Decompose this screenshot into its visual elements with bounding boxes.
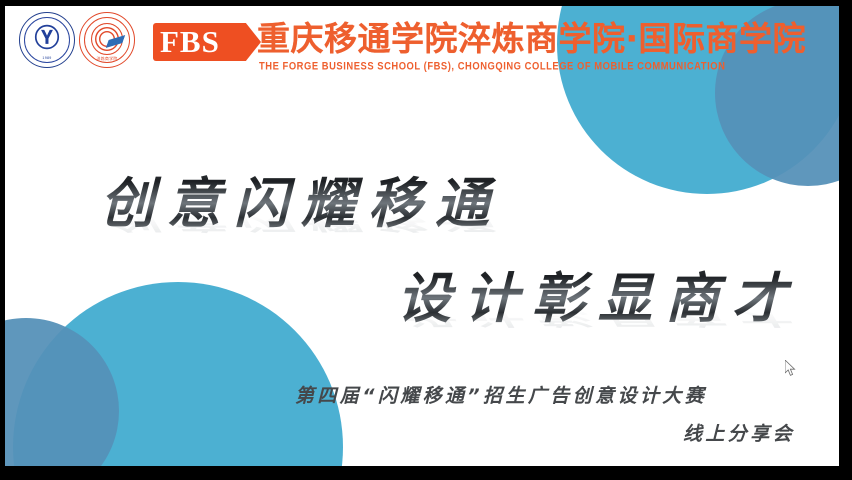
fbs-emblem-caption: 淬炼商学院 bbox=[80, 56, 134, 62]
letterbox-bar-left bbox=[0, 0, 5, 480]
letterbox-bar-top bbox=[0, 0, 852, 6]
slide-header: Ⓨ 1989 淬炼商学院 FBS 重庆移通学院淬炼商学院·国际商学院 THE F… bbox=[5, 6, 839, 82]
title-line2: 设计彰显商才 bbox=[397, 254, 799, 333]
school-name-english: THE FORGE BUSINESS SCHOOL (FBS), CHONGQI… bbox=[259, 59, 725, 72]
letterbox-bar-bottom bbox=[0, 466, 852, 480]
emblem-y-mark: Ⓨ bbox=[34, 26, 59, 51]
fbs-round-emblem-icon: 淬炼商学院 bbox=[79, 12, 135, 68]
emblem-year-label: 1989 bbox=[20, 56, 74, 60]
subtitle-line2: 线上分享会 bbox=[683, 419, 795, 446]
slide-screen: Ⓨ 1989 淬炼商学院 FBS 重庆移通学院淬炼商学院·国际商学院 THE F… bbox=[0, 0, 852, 480]
title-line1: 创意闪耀移通 bbox=[100, 159, 502, 238]
letterbox-bar-right bbox=[839, 0, 852, 480]
presentation-slide: Ⓨ 1989 淬炼商学院 FBS 重庆移通学院淬炼商学院·国际商学院 THE F… bbox=[5, 6, 839, 466]
mouse-pointer-icon bbox=[785, 360, 797, 377]
university-emblem-icon: Ⓨ 1989 bbox=[19, 12, 75, 68]
school-name-chinese: 重庆移通学院淬炼商学院·国际商学院 bbox=[257, 19, 806, 59]
subtitle-line1: 第四届“闪耀移通”招生广告创意设计大赛 bbox=[295, 381, 707, 408]
fbs-banner-label: FBS bbox=[160, 24, 220, 60]
fbs-banner: FBS bbox=[153, 23, 261, 61]
